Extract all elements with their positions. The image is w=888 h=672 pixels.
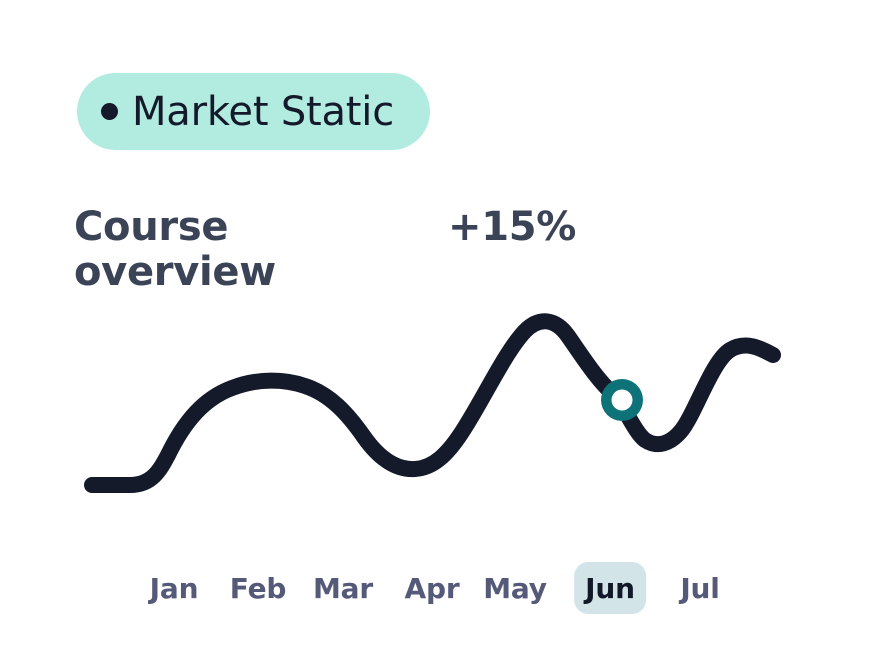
page-title: Course overview — [74, 205, 434, 295]
month-tab-mar[interactable]: Mar — [302, 562, 384, 614]
trend-line-path — [92, 321, 773, 485]
legend-pill-market-static[interactable]: Market Static — [77, 73, 430, 150]
month-tab-jun[interactable]: Jun — [574, 562, 646, 614]
month-tab-apr[interactable]: Apr — [394, 562, 471, 614]
month-tab-jul[interactable]: Jul — [669, 562, 730, 614]
delta-badge: +15% — [448, 205, 576, 250]
month-tab-may[interactable]: May — [472, 562, 558, 614]
highlight-point-inner — [612, 390, 633, 411]
highlight-point-outer[interactable] — [601, 379, 643, 421]
month-tab-jan[interactable]: Jan — [139, 562, 210, 614]
course-overview-card: Market Static Course overview +15% Jan F… — [0, 0, 888, 672]
month-axis: Jan Feb Mar Apr May Jun Jul — [132, 562, 772, 614]
headline: Course overview +15% — [74, 205, 814, 295]
month-tab-feb[interactable]: Feb — [219, 562, 297, 614]
legend-label: Market Static — [132, 92, 394, 132]
legend-dot-icon — [101, 103, 118, 120]
